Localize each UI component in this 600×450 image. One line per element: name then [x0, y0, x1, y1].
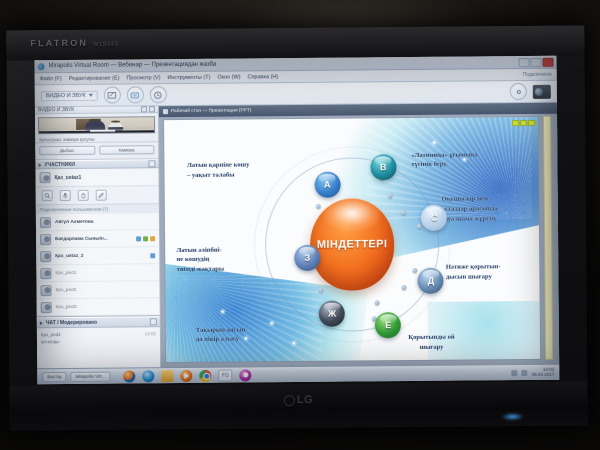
menu-edit[interactable]: Редактирование (E): [69, 75, 120, 81]
slide-scrollbar[interactable]: [543, 116, 553, 360]
participant-name: Қаз_ped3: [56, 304, 77, 309]
camera-button[interactable]: Камера: [99, 145, 155, 154]
history-icon[interactable]: [150, 86, 167, 103]
monitor-brand-label: FLATRON W1934S: [30, 38, 119, 49]
slide-close-button[interactable]: [528, 120, 535, 126]
avatar: [40, 234, 51, 245]
lg-flatron-monitor: FLATRON W1934S Mirapolis Virtual Room — …: [6, 25, 587, 430]
slide-minimize-button[interactable]: [512, 120, 519, 126]
start-button[interactable]: Бастау: [42, 372, 67, 382]
video-audio-tab[interactable]: ВИДЕО И ЗВУК: [41, 90, 98, 100]
application-body: ВИДЕО И ЗВУК: [35, 103, 559, 369]
node-a[interactable]: A: [314, 172, 340, 198]
orbit-bead: [387, 193, 392, 198]
self-participant-row[interactable]: Қаз_ustaz1: [35, 168, 158, 187]
participants-options-icon[interactable]: [148, 160, 155, 167]
chat-timestamp: 14:02: [145, 331, 156, 336]
mic-status-icon[interactable]: [150, 253, 155, 258]
node-z-letter: З: [304, 253, 310, 263]
taskbar-clock[interactable]: 14:02 05.04.2017: [532, 368, 555, 378]
node-e[interactable]: Е: [375, 312, 401, 338]
node-z[interactable]: З: [294, 245, 320, 271]
lg-logo: LG: [284, 394, 313, 406]
avatar: [40, 285, 51, 296]
audio-button[interactable]: Дыбыс: [39, 146, 95, 155]
connection-status: Подключено: [523, 71, 552, 77]
participant-name: Қаз_ustaz_2: [55, 253, 83, 258]
participant-status-icons: [150, 253, 155, 258]
video-panel-controls: [141, 106, 155, 112]
list-item[interactable]: Қаз_ustaz_2: [36, 247, 159, 265]
list-item[interactable]: Қаз_ped1: [36, 264, 159, 282]
windows-taskbar: Бастау Mirapolis Virt... FΩ 14:02: [37, 364, 559, 385]
webcam-icon[interactable]: [533, 84, 551, 98]
label-right-lower: Нәтиже қорытын- дысын шығару: [446, 262, 540, 282]
participant-name: Қаз_ped2: [56, 287, 77, 292]
monitor-screen: Mirapolis Virtual Room — Вебинар — Презе…: [35, 56, 560, 385]
participants-list: Айгүл Ахметова Бағдарлама Сыныбі...: [36, 213, 160, 316]
orbit-bead: [412, 268, 417, 273]
chat-author: Қаз_ped4: [41, 332, 61, 337]
menu-view[interactable]: Просмотр (V): [127, 75, 161, 81]
node-zh[interactable]: Ж: [319, 300, 345, 326]
window-title: Mirapolis Virtual Room — Вебинар — Презе…: [49, 62, 217, 69]
firefox-icon[interactable]: [123, 370, 135, 382]
taskbar-app-button[interactable]: Mirapolis Virt...: [71, 371, 111, 381]
node-c-letter: C: [431, 213, 438, 223]
whiteboard-icon[interactable]: [104, 87, 121, 104]
avatar: [41, 302, 52, 313]
settings-icon[interactable]: [510, 83, 527, 100]
mic-icon[interactable]: [60, 190, 71, 201]
video-caption: Қатысушы: камера қосулы: [39, 137, 94, 142]
label-left: Латын әліпбиі- не көшудің тиімді жақтары: [176, 245, 273, 274]
slide-window-controls: [512, 120, 535, 126]
center-label: МІНДЕТТЕРІ: [317, 238, 388, 251]
avatar: [40, 217, 51, 228]
node-a-letter: A: [324, 180, 331, 190]
video-minimize-icon[interactable]: [141, 106, 147, 112]
participant-name: Айгүл Ахметова: [55, 219, 94, 224]
label-bottom-right: Қорытынды ой шығару: [383, 333, 480, 353]
node-d-letter: Д: [428, 276, 435, 286]
menu-tools[interactable]: Инструменты (T): [167, 74, 210, 80]
expand-triangle-icon: [38, 163, 41, 167]
photograph-of-monitor: FLATRON W1934S Mirapolis Virtual Room — …: [0, 0, 600, 450]
pen-icon[interactable]: [96, 190, 107, 201]
text-editor-icon[interactable]: FΩ: [218, 369, 232, 381]
lg-ring-icon: [284, 395, 295, 406]
window-controls: [519, 57, 554, 66]
presentation-slide: B A C Д: [164, 117, 540, 362]
avatar: [40, 172, 51, 183]
node-b[interactable]: B: [370, 154, 396, 180]
slide-container[interactable]: B A C Д: [163, 116, 541, 363]
list-item[interactable]: Айгүл Ахметова: [36, 213, 159, 231]
video-panel-header: ВИДЕО И ЗВУК: [35, 106, 158, 114]
volume-icon[interactable]: [522, 369, 528, 375]
menu-window[interactable]: Окно (W): [217, 74, 240, 80]
participant-status-icons: [136, 236, 155, 241]
hand-status-icon[interactable]: [150, 236, 155, 241]
list-item[interactable]: Қаз_ped3: [37, 298, 160, 316]
chat-panel-title: ЧАТ / Модерировано: [46, 319, 97, 325]
video-panel-title: ВИДЕО И ЗВУК: [38, 107, 74, 113]
monitor-bottom-bezel: LG: [9, 381, 587, 430]
list-item[interactable]: Қаз_ped2: [36, 281, 159, 299]
chrome-icon[interactable]: [199, 369, 211, 381]
chat-message-text: қосылды: [41, 338, 156, 344]
orbit-bead: [401, 285, 406, 290]
mic-status-icon[interactable]: [136, 236, 141, 241]
camera-status-icon[interactable]: [143, 236, 148, 241]
node-zh-letter: Ж: [328, 308, 336, 318]
video-popout-icon[interactable]: [149, 106, 155, 112]
minimize-button[interactable]: [519, 57, 530, 66]
share-header: Рабочий стол — Презентация (PPT): [159, 103, 557, 117]
list-item[interactable]: Бағдарлама Сыныбі...: [36, 230, 159, 248]
participant-tools: [36, 186, 159, 205]
internet-explorer-icon[interactable]: [142, 370, 154, 382]
clock-date: 05.04.2017: [532, 371, 555, 376]
node-e-letter: Е: [385, 320, 391, 330]
left-sidebar: ВИДЕО И ЗВУК: [35, 106, 161, 368]
avatar: [40, 251, 51, 262]
chat-panel: ЧАТ / Модерировано 14:02 Қаз_ped4 қосылд…: [37, 315, 160, 368]
app-icon: [38, 63, 45, 70]
share-header-label: Рабочий стол — Презентация (PPT): [171, 108, 251, 114]
slide-decor-bottom-right: [427, 300, 540, 362]
chat-messages[interactable]: 14:02 Қаз_ped4 қосылды: [37, 327, 160, 368]
label-top-left: Латын қарпіне көшу – уақыт талабы: [187, 160, 299, 180]
brand-model-text: W1934S: [93, 42, 119, 48]
avatar: [40, 268, 51, 279]
video-audio-tab-label: ВИДЕО И ЗВУК: [46, 92, 86, 98]
participants-title: УЧАСТНИКИ: [44, 161, 75, 167]
media-player-icon[interactable]: [180, 369, 192, 381]
label-right-upper: Оқушылар мен ұстаздар арасында сауалнама…: [441, 194, 538, 223]
share-icon: [163, 109, 168, 114]
maximize-button[interactable]: [531, 57, 542, 66]
center-sphere: МІНДЕТТЕРІ: [310, 198, 395, 291]
folder-icon[interactable]: [161, 370, 173, 382]
expand-triangle-icon: [40, 321, 43, 325]
chevron-down-icon: [89, 94, 93, 97]
participant-name: Қаз_ped1: [55, 270, 76, 275]
power-led: [502, 413, 524, 420]
taskbar-tabs: Бастау Mirapolis Virt...: [42, 371, 110, 382]
video-button-row: Дыбыс Камера: [35, 142, 158, 160]
brand-flatron-text: FLATRON: [30, 38, 88, 49]
presentation-stage: Рабочий стол — Презентация (PPT): [159, 103, 559, 367]
system-tray: 14:02 05.04.2017: [512, 368, 555, 378]
menu-help[interactable]: Справка (H): [248, 74, 279, 80]
node-b-letter: B: [380, 163, 387, 173]
slide-restore-button[interactable]: [520, 120, 527, 126]
orbit-bead: [400, 210, 405, 215]
chat-message-line: 14:02 Қаз_ped4: [41, 331, 156, 337]
participant-name: Бағдарлама Сыныбі...: [55, 236, 108, 241]
label-bottom-left: Тақырып аясын- да пікір алысу: [196, 325, 301, 345]
lg-logo-text: LG: [297, 394, 313, 406]
close-button[interactable]: [543, 57, 554, 66]
menu-file[interactable]: Файл (F): [40, 76, 62, 82]
hand-icon[interactable]: [78, 190, 89, 201]
search-icon[interactable]: [42, 190, 53, 201]
toolbar-right-group: [510, 83, 551, 100]
video-feed[interactable]: [38, 116, 155, 134]
label-top-right: «Латиница» ұғымына түсінік беру.: [411, 150, 531, 170]
network-icon[interactable]: [512, 370, 518, 376]
self-participant-name: Қаз_ustaz1: [55, 174, 82, 180]
chat-options-icon[interactable]: [150, 318, 157, 325]
screen-share-icon[interactable]: [127, 86, 144, 103]
vlc-icon[interactable]: [239, 369, 251, 381]
video-name-chip: [90, 130, 115, 132]
application-window: Mirapolis Virtual Room — Вебинар — Презе…: [35, 56, 560, 385]
